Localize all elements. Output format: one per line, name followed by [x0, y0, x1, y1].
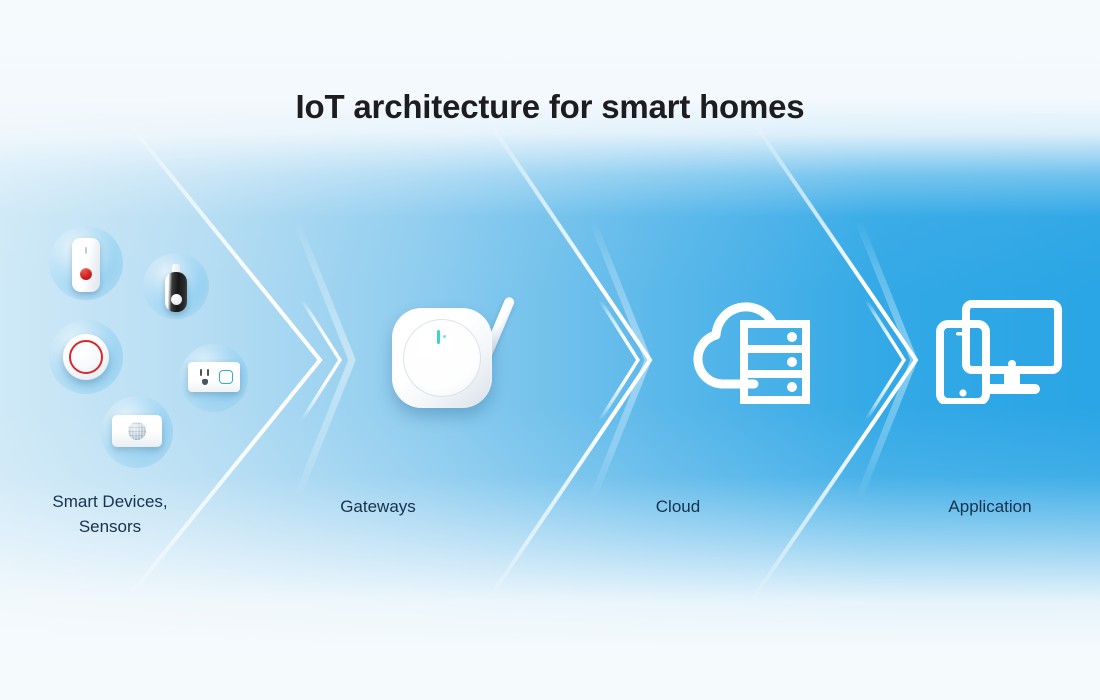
phone-home-button: [959, 389, 966, 396]
stage-label-devices: Smart Devices, Sensors: [10, 490, 210, 539]
smoke-detector-device: [63, 334, 109, 380]
outlet-control-button: [219, 370, 233, 384]
server-led-1: [787, 332, 797, 342]
gateway-hub-device: [392, 300, 517, 412]
panic-button-led: [85, 247, 87, 254]
door-sensor-device: [165, 264, 187, 312]
smart-outlet-device: [188, 362, 240, 392]
gateway-led-dot: [443, 335, 446, 338]
outlet-socket-icon: [197, 369, 213, 386]
outlet-ground-pin: [202, 379, 208, 385]
gateway-body: [392, 308, 492, 408]
motion-sensor-device: [112, 415, 162, 447]
monitor-bezel-dot: [1008, 360, 1016, 368]
gateway-face: [403, 319, 481, 397]
application-devices-icon: [936, 298, 1064, 404]
page-title: IoT architecture for smart homes: [0, 88, 1100, 126]
door-sensor-body: [165, 272, 187, 312]
phone-earpiece: [956, 332, 970, 336]
smoke-detector-ring: [69, 340, 103, 374]
server-led-2: [787, 357, 797, 367]
outlet-slot-right: [207, 369, 209, 376]
monitor-stand-neck: [1004, 374, 1020, 384]
outlet-slot-left: [200, 369, 202, 376]
stage-label-gateways: Gateways: [288, 495, 468, 520]
server-led-3: [787, 382, 797, 392]
motion-sensor-lens-icon: [128, 422, 146, 440]
stage-label-application: Application: [900, 495, 1080, 520]
cloud-server-icon: [692, 296, 814, 404]
monitor-stand-base: [984, 384, 1040, 394]
panic-button-device: [72, 238, 100, 292]
door-sensor-button: [171, 294, 182, 305]
iot-architecture-diagram: IoT architecture for smart homes: [0, 0, 1100, 700]
monitor-icon: [966, 304, 1058, 394]
gateway-led-indicator: [437, 330, 440, 344]
stage-label-cloud: Cloud: [588, 495, 768, 520]
panic-button-press: [80, 268, 92, 280]
